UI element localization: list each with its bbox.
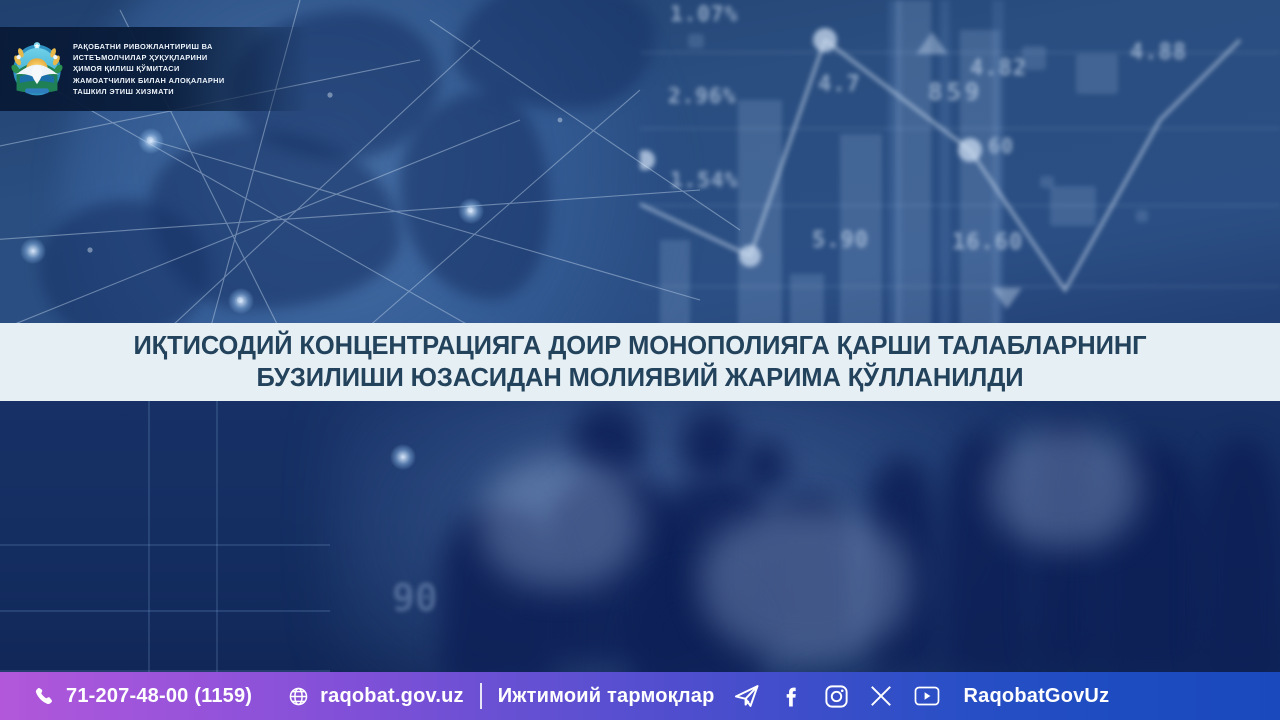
ticker-line-chart [640,0,1280,330]
youtube-icon[interactable] [912,683,942,709]
contact-footer-bar: 71-207-48-00 (1159) raqobat.gov.uz Ижтим… [0,672,1280,720]
organization-logo-bar: РАҚОБАТНИ РИВОЖЛАНТИРИШ ВА ИСТЕЪМОЛЧИЛАР… [0,27,310,111]
footer-divider [480,683,482,709]
telegram-icon[interactable] [733,682,761,710]
org-name-line: ИСТЕЪМОЛЧИЛАР ҲУҚУҚЛАРИНИ [73,52,225,63]
org-name-line: ҲИМОЯ ҚИЛИШ ҚЎМИТАСИ [73,63,225,74]
social-handle: RaqobatGovUz [964,685,1110,708]
org-name-line: ЖАМОАТЧИЛИК БИЛАН АЛОҚАЛАРНИ [73,75,225,86]
organization-name: РАҚОБАТНИ РИВОЖЛАНТИРИШ ВА ИСТЕЪМОЛЧИЛАР… [73,41,225,97]
slide-canvas: 1.07% 2.96% 1.54% 4.7 4.82 859 16.60 5.9… [0,0,1280,720]
network-node-glow [138,128,164,154]
org-name-line: ТАШКИЛ ЭТИШ ХИЗМАТИ [73,86,225,97]
phone-number: 71-207-48-00 (1159) [66,685,252,708]
facebook-icon[interactable] [779,683,805,709]
headline-line-2: БУЗИЛИШИ ЮЗАСИДАН МОЛИЯВИЙ ЖАРИМА ҚЎЛЛАН… [256,362,1023,394]
website-block[interactable]: raqobat.gov.uz [288,685,464,708]
network-node-glow [458,198,484,224]
phone-icon [34,686,55,707]
financial-ticker-graphic: 1.07% 2.96% 1.54% 4.7 4.82 859 16.60 5.9… [640,0,1280,330]
website-url: raqobat.gov.uz [320,685,464,708]
social-networks-label: Ижтимоий тармоқлар [498,685,715,708]
headline-banner: ИҚТИСОДИЙ КОНЦЕНТРАЦИЯГА ДОИР МОНОПОЛИЯГ… [0,323,1280,401]
globe-icon [288,686,309,707]
x-twitter-icon[interactable] [868,683,894,709]
instagram-icon[interactable] [823,683,850,710]
phone-block[interactable]: 71-207-48-00 (1159) [34,685,252,708]
headline-line-1: ИҚТИСОДИЙ КОНЦЕНТРАЦИЯГА ДОИР МОНОПОЛИЯГ… [133,330,1146,362]
network-node-glow [228,288,254,314]
org-name-line: РАҚОБАТНИ РИВОЖЛАНТИРИШ ВА [73,41,225,52]
uzbekistan-state-emblem-icon [10,41,64,97]
network-node-glow [20,238,46,264]
